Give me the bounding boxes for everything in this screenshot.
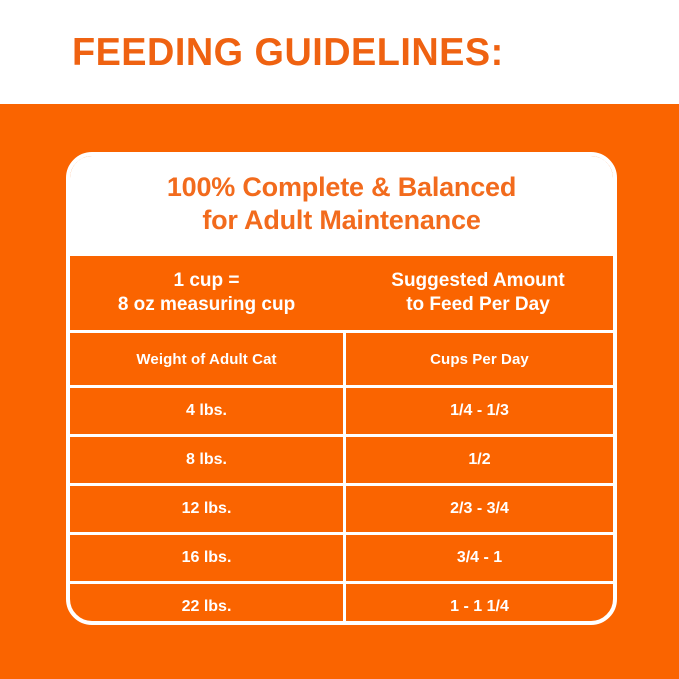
table-row: 16 lbs. 3/4 - 1 bbox=[70, 532, 613, 581]
card-header-line-2: for Adult Maintenance bbox=[202, 204, 480, 237]
suggested-amount-cell: Suggested Amount to Feed Per Day bbox=[343, 256, 613, 330]
cell-cups: 1/2 bbox=[343, 437, 613, 483]
cell-weight: 12 lbs. bbox=[70, 486, 343, 532]
page-title: FEEDING GUIDELINES: bbox=[72, 33, 504, 72]
column-header-weight: Weight of Adult Cat bbox=[70, 333, 343, 385]
cell-weight: 4 lbs. bbox=[70, 388, 343, 434]
page-body: 100% Complete & Balanced for Adult Maint… bbox=[0, 104, 679, 679]
table-row: 22 lbs. 1 - 1 1/4 bbox=[70, 581, 613, 625]
table-row: 12 lbs. 2/3 - 3/4 bbox=[70, 483, 613, 532]
cup-definition-cell: 1 cup = 8 oz measuring cup bbox=[70, 256, 343, 330]
card-header: 100% Complete & Balanced for Adult Maint… bbox=[70, 156, 613, 256]
feeding-card: 100% Complete & Balanced for Adult Maint… bbox=[66, 152, 617, 625]
cell-weight: 16 lbs. bbox=[70, 535, 343, 581]
feeding-guidelines-panel: FEEDING GUIDELINES: 100% Complete & Bala… bbox=[0, 0, 679, 679]
table-header-row: Weight of Adult Cat Cups Per Day bbox=[70, 330, 613, 385]
suggested-amount-line-2: to Feed Per Day bbox=[391, 293, 564, 317]
table-row: 4 lbs. 1/4 - 1/3 bbox=[70, 385, 613, 434]
cup-definition-line-2: 8 oz measuring cup bbox=[118, 293, 295, 317]
cell-weight: 22 lbs. bbox=[70, 584, 343, 625]
table-row: 8 lbs. 1/2 bbox=[70, 434, 613, 483]
cell-cups: 1/4 - 1/3 bbox=[343, 388, 613, 434]
cup-definition-line-1: 1 cup = bbox=[118, 269, 295, 293]
suggested-amount-line-1: Suggested Amount bbox=[391, 269, 564, 293]
column-header-cups: Cups Per Day bbox=[343, 333, 613, 385]
cell-cups: 1 - 1 1/4 bbox=[343, 584, 613, 625]
cell-cups: 3/4 - 1 bbox=[343, 535, 613, 581]
cell-cups: 2/3 - 3/4 bbox=[343, 486, 613, 532]
banner: FEEDING GUIDELINES: bbox=[0, 0, 679, 104]
card-header-line-1: 100% Complete & Balanced bbox=[167, 171, 516, 204]
feeding-table: 1 cup = 8 oz measuring cup Suggested Amo… bbox=[70, 256, 613, 625]
table-row-intro: 1 cup = 8 oz measuring cup Suggested Amo… bbox=[70, 256, 613, 330]
cell-weight: 8 lbs. bbox=[70, 437, 343, 483]
